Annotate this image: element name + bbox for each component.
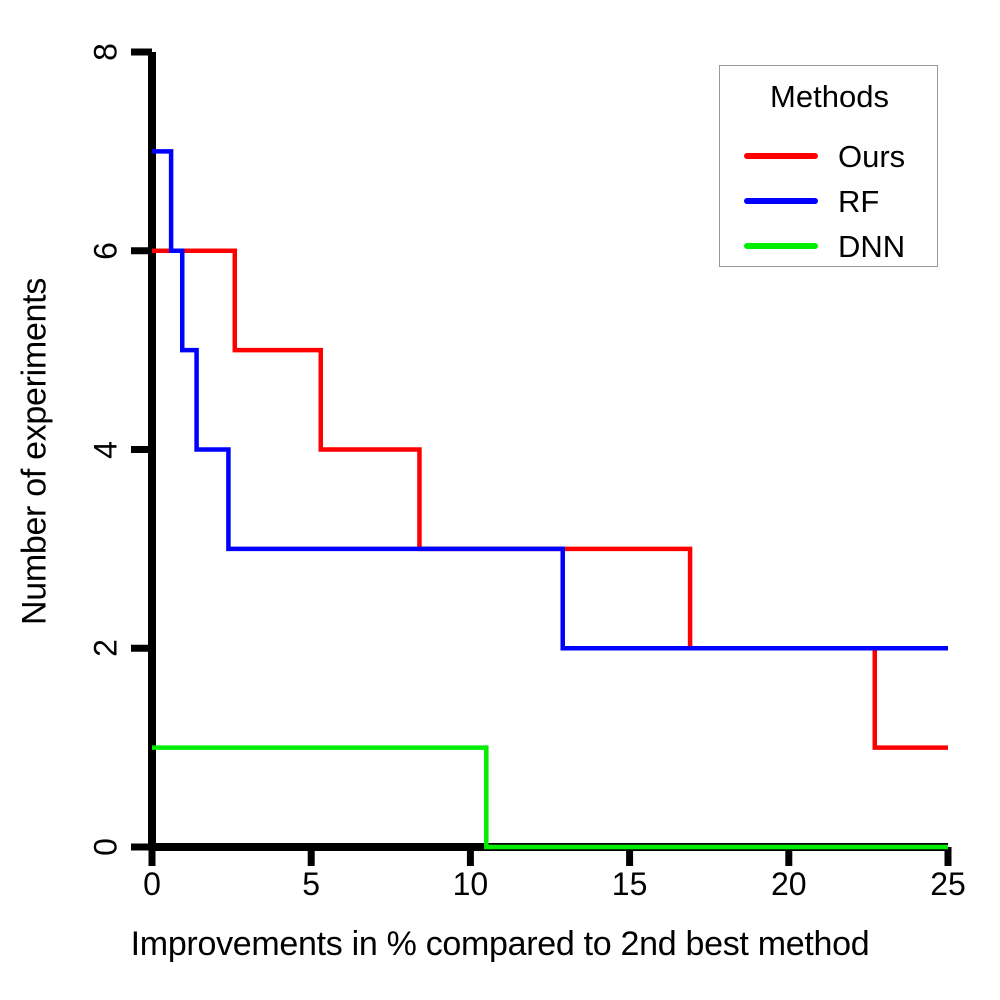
y-tick-label: 4	[88, 441, 125, 459]
legend-label-dnn: DNN	[838, 231, 905, 262]
x-tick-label: 15	[612, 866, 648, 903]
y-tick-label: 8	[88, 43, 125, 61]
legend-item-dnn[interactable]: DNN	[720, 224, 939, 268]
series-line-dnn	[152, 748, 948, 847]
x-tick-label: 10	[453, 866, 489, 903]
x-tick-label: 20	[771, 866, 807, 903]
legend-swatch-ours	[744, 153, 818, 159]
x-tick-label: 0	[143, 866, 161, 903]
chart-figure: 0510152025 02468 Improvements in % compa…	[0, 0, 1000, 1000]
legend-item-ours[interactable]: Ours	[720, 134, 939, 178]
y-axis-title-container: Number of experiments	[16, 32, 55, 872]
series-line-ours	[152, 251, 948, 748]
y-tick-label: 2	[88, 639, 125, 657]
x-axis-title: Improvements in % compared to 2nd best m…	[0, 925, 1000, 964]
y-tick-label: 0	[88, 838, 125, 856]
y-axis-title: Number of experiments	[16, 278, 54, 625]
x-tick-label: 25	[930, 866, 966, 903]
legend-swatch-dnn	[744, 243, 818, 249]
x-tick-label: 5	[302, 866, 320, 903]
legend-label-ours: Ours	[838, 141, 905, 172]
legend-label-rf: RF	[838, 186, 879, 217]
y-tick-label: 6	[88, 242, 125, 260]
legend-title: Methods	[720, 79, 939, 115]
legend-item-rf[interactable]: RF	[720, 179, 939, 223]
legend-swatch-rf	[744, 198, 818, 204]
legend: Methods Ours RF DNN	[719, 65, 938, 267]
